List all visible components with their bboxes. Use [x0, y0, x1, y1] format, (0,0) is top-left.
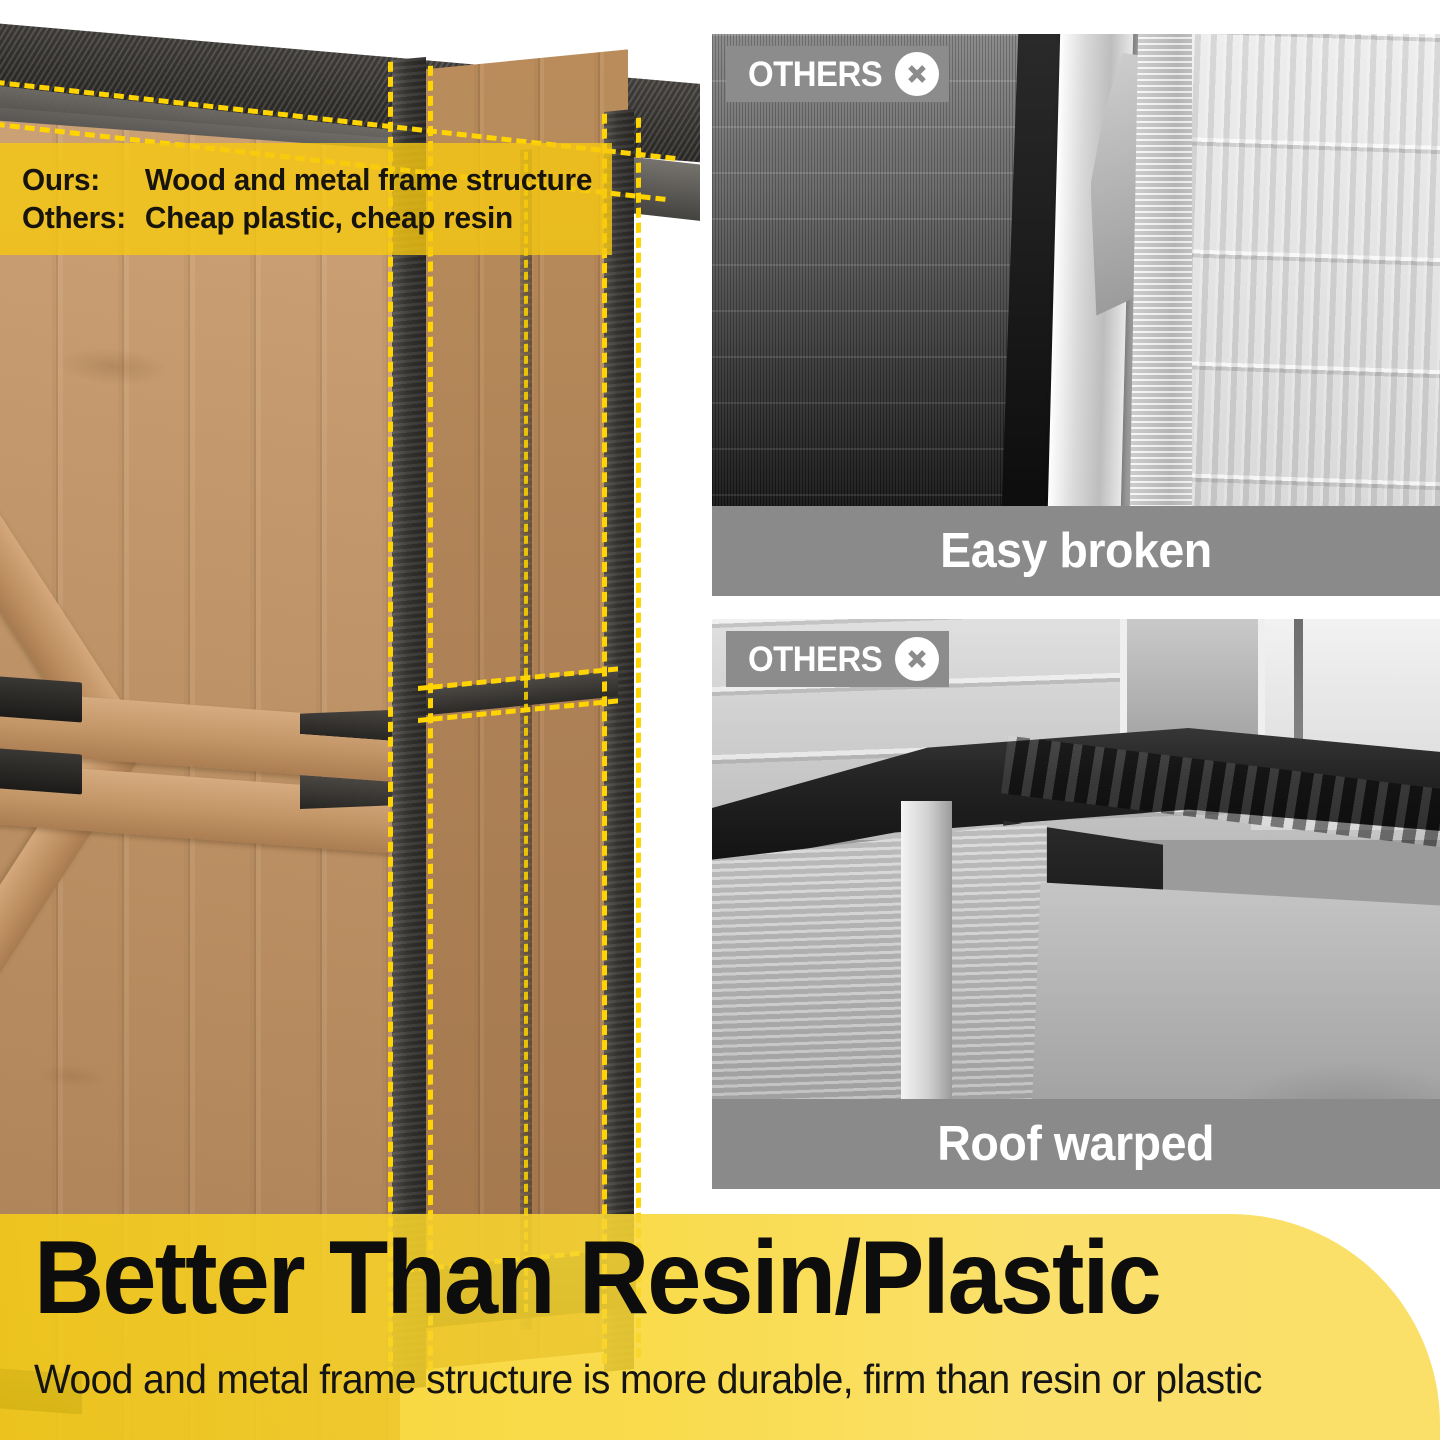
panel-caption-text: Roof warped	[938, 1116, 1215, 1172]
frame-highlight-dash-right-b	[636, 118, 641, 1358]
comparison-photo-column: OTHERS Easy broken	[712, 34, 1440, 1212]
others-text: Cheap plastic, cheap resin	[145, 200, 513, 235]
photo1-textured-siding-wall	[1192, 34, 1440, 506]
photo2-shed-corner-edge	[901, 801, 952, 1099]
others-callout-line: Others:Cheap plastic, cheap resin	[22, 200, 588, 236]
shed-door-hinge-lower	[0, 748, 82, 794]
others-badge-label: OTHERS	[748, 642, 882, 677]
photo2-shed-front-panel	[712, 821, 1047, 1099]
others-badge: OTHERS	[726, 631, 949, 687]
comparison-panel-roof-warped: OTHERS Roof warped	[712, 619, 1440, 1189]
banner-subtitle: Wood and metal frame structure is more d…	[34, 1356, 1262, 1403]
ours-vs-others-callout: Ours:Wood and metal frame structure Othe…	[0, 143, 612, 255]
shed-right-metal-post	[604, 109, 634, 1372]
panel-caption-bar: Roof warped	[712, 1099, 1440, 1189]
shed-door-hinge-upper	[0, 676, 82, 722]
photo1-shadowed-siding	[712, 34, 1018, 506]
warped-plastic-roof-photo	[712, 619, 1440, 1099]
shed-side-mid-post	[520, 149, 532, 1330]
ours-callout-line: Ours:Wood and metal frame structure	[22, 162, 588, 198]
broken-plastic-siding-photo	[712, 34, 1440, 506]
infographic-stage: Ours:Wood and metal frame structure Othe…	[0, 0, 1445, 1440]
bottom-yellow-banner: Better Than Resin/Plastic Wood and metal…	[0, 1214, 1440, 1440]
others-label: Others:	[22, 200, 145, 236]
x-circle-icon	[895, 637, 939, 681]
others-badge-label: OTHERS	[748, 57, 882, 92]
banner-headline: Better Than Resin/Plastic	[34, 1220, 1160, 1336]
others-badge: OTHERS	[726, 46, 949, 102]
panel-caption-text: Easy broken	[940, 523, 1212, 579]
shed-corner-metal-post	[392, 57, 426, 1390]
panel-caption-bar: Easy broken	[712, 506, 1440, 596]
photo2-shed-door	[1032, 869, 1440, 1099]
ours-text: Wood and metal frame structure	[145, 162, 592, 197]
comparison-panel-easy-broken: OTHERS Easy broken	[712, 34, 1440, 596]
ours-label: Ours:	[22, 162, 145, 198]
x-circle-icon	[895, 52, 939, 96]
